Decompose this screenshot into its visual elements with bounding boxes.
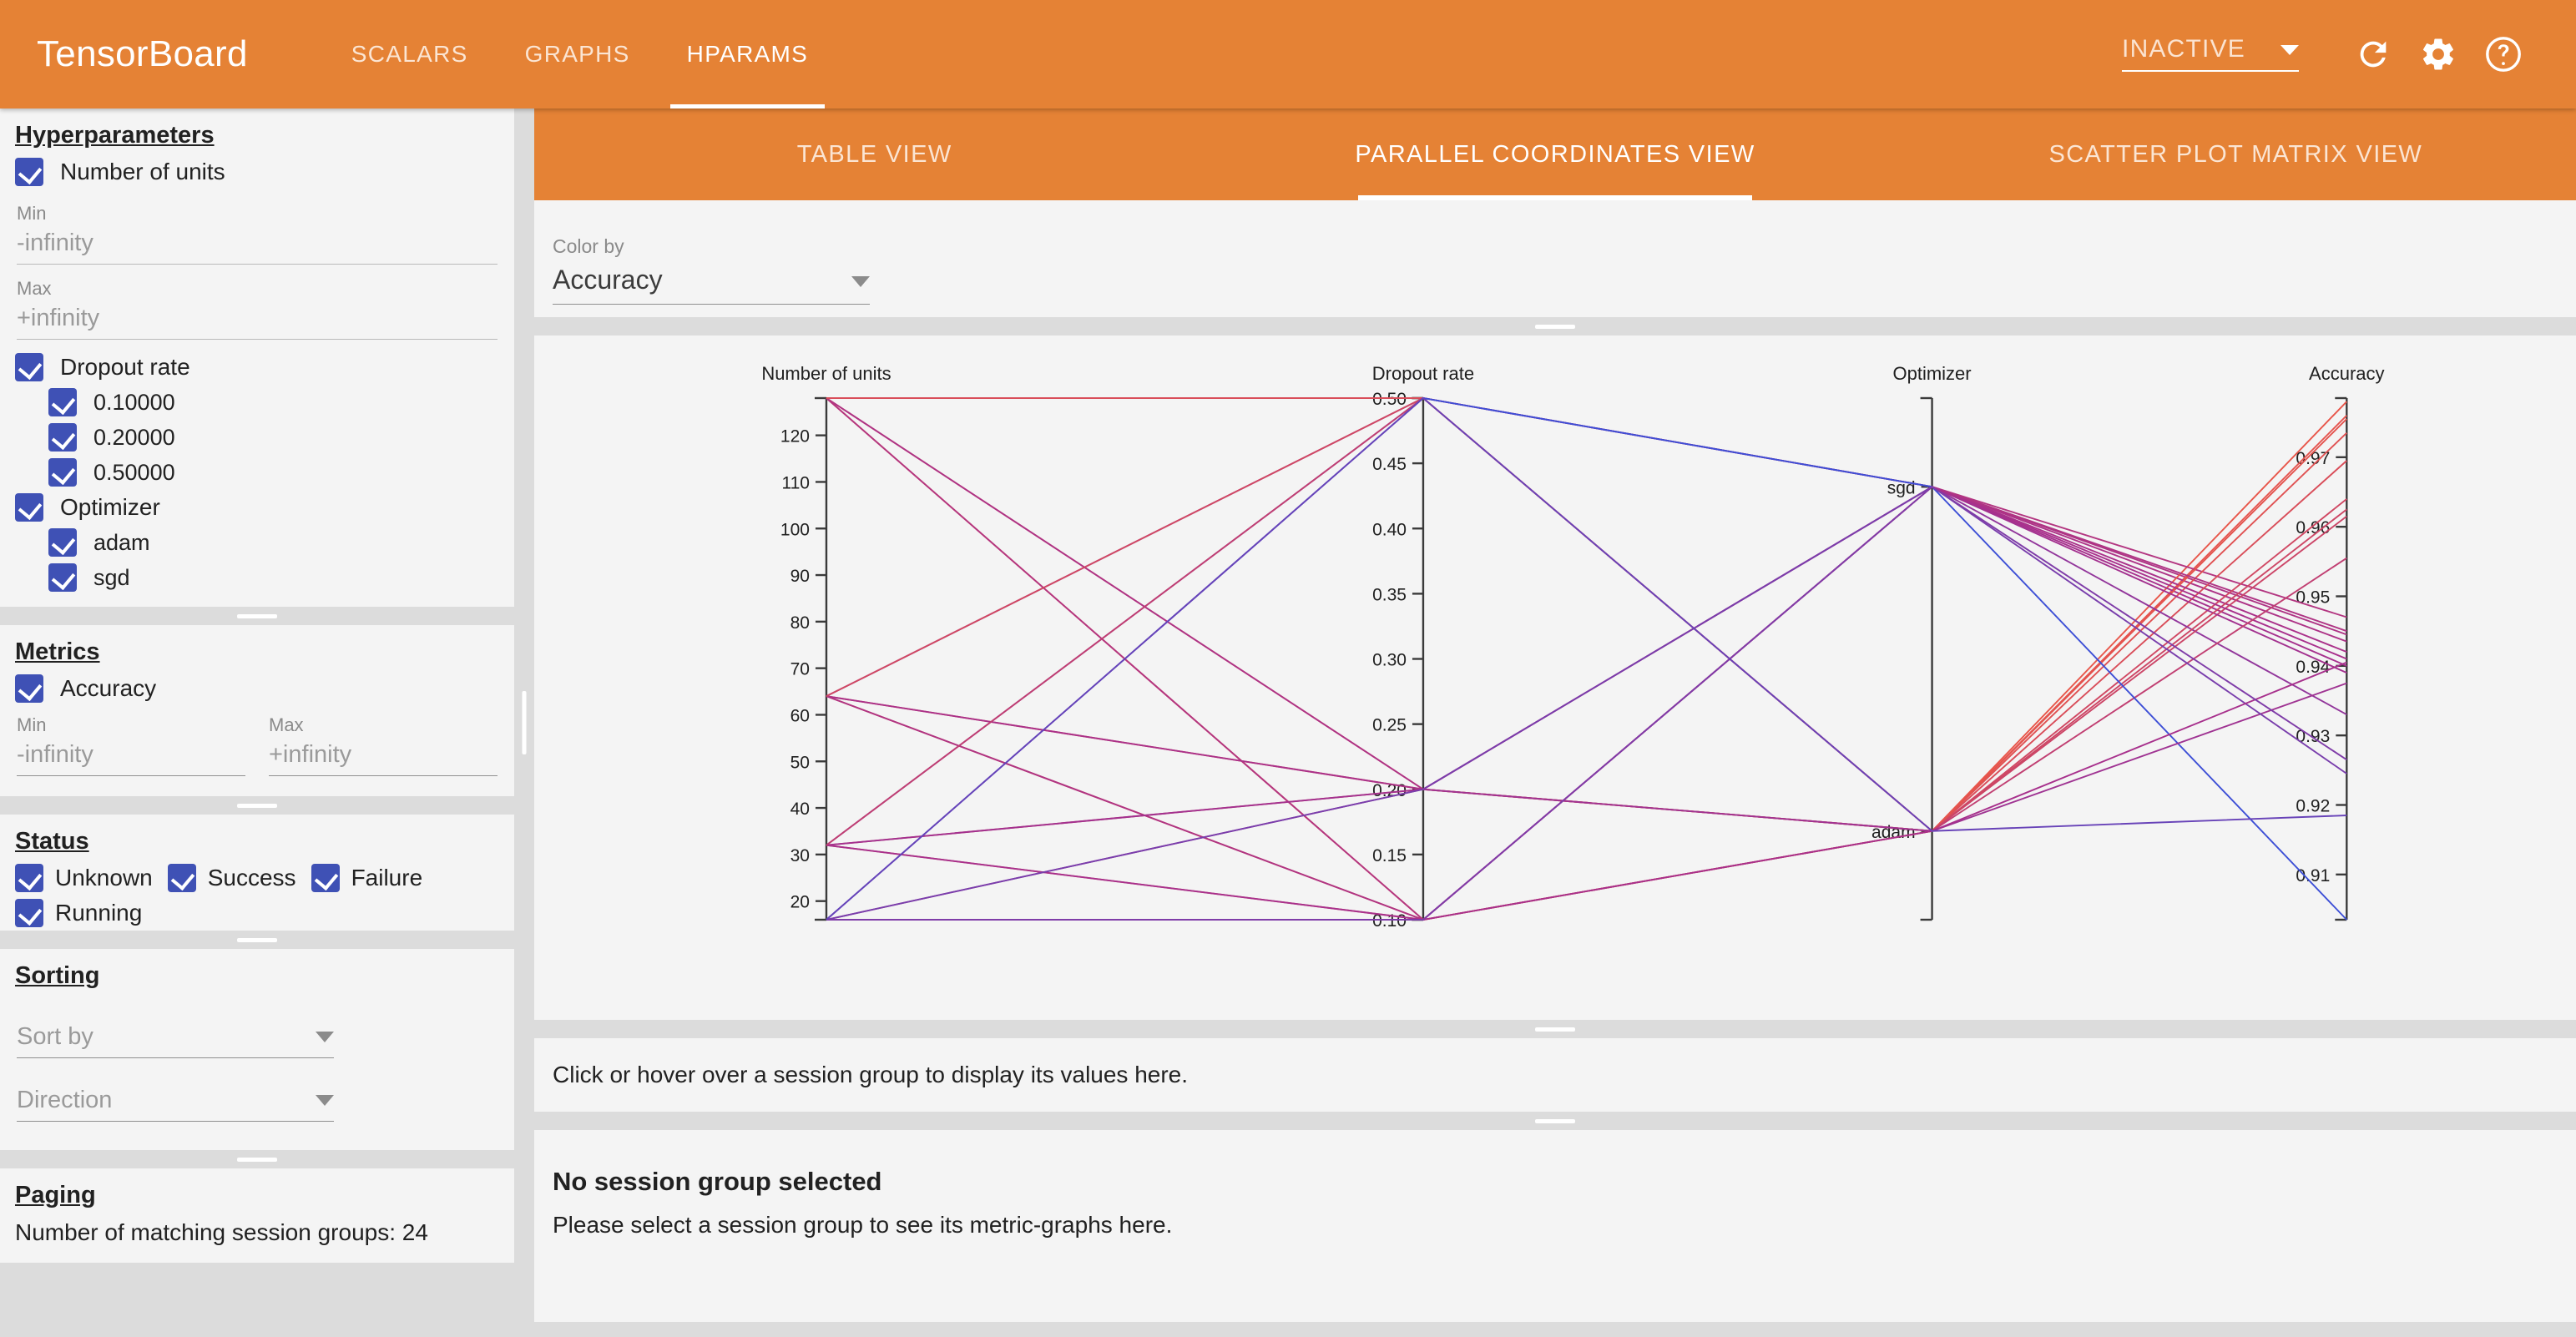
metrics-card: Metrics Accuracy Min -infinity Max +infi… xyxy=(0,625,514,796)
tab-scatter-plot-matrix-view-label: SCATTER PLOT MATRIX VIEW xyxy=(2048,141,2422,169)
accuracy-min-label: Min xyxy=(17,706,245,736)
axis-3-tick-1: 0.92 xyxy=(2296,797,2330,816)
sort-by-select[interactable]: Sort by xyxy=(0,995,514,1058)
units-max-label: Max xyxy=(17,265,498,300)
status-row-unknown[interactable]: Unknown xyxy=(15,860,168,896)
accuracy-min-value[interactable]: -infinity xyxy=(17,736,245,776)
session-panel-title: No session group selected xyxy=(553,1167,2576,1197)
axis-0-tick-9: 110 xyxy=(781,473,809,492)
axis-1: Dropout rate0.100.150.200.250.300.350.40… xyxy=(1372,363,1474,931)
app-bar: TensorBoard SCALARS GRAPHS HPARAMS INACT… xyxy=(0,0,2576,108)
session-line xyxy=(826,398,2346,845)
dropout-value-row-2[interactable]: 0.50000 xyxy=(0,455,514,490)
checkbox-optimizer[interactable] xyxy=(15,493,43,522)
app-brand: TensorBoard xyxy=(37,33,248,75)
nav-tab-hparams-label: HPARAMS xyxy=(687,41,809,68)
hover-hint-text: Click or hover over a session group to d… xyxy=(553,1062,1188,1088)
color-by-label: Color by xyxy=(553,235,2576,258)
checkbox-optimizer-1[interactable] xyxy=(48,563,77,592)
panel-divider-1[interactable] xyxy=(0,607,514,625)
checkbox-accuracy[interactable] xyxy=(15,674,43,703)
optimizer-value-row-1[interactable]: sgd xyxy=(0,560,514,595)
sorting-title: Sorting xyxy=(0,949,514,995)
status-row-failure[interactable]: Failure xyxy=(311,860,438,896)
hparam-number-of-units-label: Number of units xyxy=(60,159,225,185)
status-row-success[interactable]: Success xyxy=(168,860,311,896)
session-lines xyxy=(826,398,2346,920)
gear-icon xyxy=(2419,35,2457,73)
hparam-dropout-rate-row[interactable]: Dropout rate xyxy=(0,350,514,385)
axis-2: Optimizeradamsgd xyxy=(1871,363,1972,920)
chevron-down-icon xyxy=(316,1032,334,1042)
hover-values-panel: Click or hover over a session group to d… xyxy=(534,1038,2576,1112)
nav-tab-scalars-label: SCALARS xyxy=(351,41,468,68)
session-line xyxy=(826,684,2346,920)
session-group-panel: No session group selected Please select … xyxy=(534,1130,2576,1322)
axis-0-tick-3: 50 xyxy=(790,753,810,772)
hparam-number-of-units-row[interactable]: Number of units xyxy=(0,154,514,189)
nav-tab-hparams[interactable]: HPARAMS xyxy=(659,0,837,108)
nav-tab-graphs-label: GRAPHS xyxy=(525,41,630,68)
panel-divider-plot-top[interactable] xyxy=(534,317,2576,336)
app-bar-actions: INACTIVE xyxy=(2122,22,2576,87)
panel-divider-2[interactable] xyxy=(0,796,514,815)
axis-1-tick-1: 0.15 xyxy=(1372,846,1407,865)
session-line xyxy=(826,398,2346,634)
tab-table-view[interactable]: TABLE VIEW xyxy=(534,108,1215,200)
axis-0-tick-10: 120 xyxy=(780,427,810,447)
panel-divider-hover[interactable] xyxy=(534,1020,2576,1038)
status-row-running[interactable]: Running xyxy=(15,896,157,931)
color-by-value: Accuracy xyxy=(553,265,663,295)
session-line xyxy=(826,398,2346,920)
session-line xyxy=(826,487,2346,920)
panel-divider-3[interactable] xyxy=(0,931,514,949)
metrics-title: Metrics xyxy=(0,625,514,671)
session-line xyxy=(826,398,2346,845)
session-panel-body: Please select a session group to see its… xyxy=(553,1197,2576,1239)
tab-table-view-label: TABLE VIEW xyxy=(797,141,952,169)
axis-3-tick-0: 0.91 xyxy=(2296,866,2330,885)
hyperparameters-card: Hyperparameters Number of units Min -inf… xyxy=(0,108,514,607)
axis-3-tick-4: 0.95 xyxy=(2296,588,2330,608)
accuracy-range-fields: Min -infinity Max +infinity xyxy=(0,706,514,776)
run-selector-value: INACTIVE xyxy=(2122,37,2245,62)
axis-0-tick-8: 100 xyxy=(780,520,810,539)
metric-accuracy-row[interactable]: Accuracy xyxy=(0,671,514,706)
tab-scatter-plot-matrix-view[interactable]: SCATTER PLOT MATRIX VIEW xyxy=(1896,108,2576,200)
chevron-down-icon xyxy=(851,276,870,287)
chevron-down-icon xyxy=(316,1095,334,1106)
checkbox-dropout-2[interactable] xyxy=(48,458,77,487)
dropout-value-label-1: 0.20000 xyxy=(93,425,175,451)
hyperparameters-title: Hyperparameters xyxy=(0,108,514,154)
status-card: Status Unknown Success Failure Running xyxy=(0,815,514,931)
dropout-value-row-1[interactable]: 0.20000 xyxy=(0,420,514,455)
paging-title: Paging xyxy=(0,1168,514,1214)
optimizer-value-label-1: sgd xyxy=(93,565,130,591)
axis-title-2: Optimizer xyxy=(1893,363,1972,384)
session-line xyxy=(826,487,2346,845)
session-line xyxy=(826,398,2346,920)
units-max-value[interactable]: +infinity xyxy=(17,300,498,340)
hparam-optimizer-label: Optimizer xyxy=(60,494,160,521)
session-line xyxy=(826,398,2346,920)
direction-value: Direction xyxy=(17,1087,112,1114)
metric-accuracy-label: Accuracy xyxy=(60,675,156,702)
status-label-running: Running xyxy=(55,900,142,926)
session-line xyxy=(826,398,2346,920)
axis-0-tick-6: 80 xyxy=(790,613,810,633)
chevron-down-icon xyxy=(2281,45,2299,55)
axis-1-tick-7: 0.45 xyxy=(1372,455,1407,474)
accuracy-max-field[interactable]: Max +infinity xyxy=(269,706,498,776)
status-label-success: Success xyxy=(208,865,296,891)
units-min-label: Min xyxy=(17,189,498,225)
checkbox-dropout-1[interactable] xyxy=(48,423,77,452)
nav-tab-scalars[interactable]: SCALARS xyxy=(323,0,497,108)
settings-button[interactable] xyxy=(2406,22,2471,87)
main-nav: SCALARS GRAPHS HPARAMS xyxy=(323,0,836,108)
axis-0: Number of units2030405060708090100110120 xyxy=(761,363,891,920)
session-line xyxy=(826,433,2346,831)
checkbox-number-of-units[interactable] xyxy=(15,158,43,186)
accuracy-max-value[interactable]: +infinity xyxy=(269,736,498,776)
optimizer-value-label-0: adam xyxy=(93,530,150,556)
status-label-failure: Failure xyxy=(351,865,423,891)
session-line xyxy=(826,663,2346,920)
sidebar-resize-handle[interactable] xyxy=(514,108,534,1337)
sort-by-value: Sort by xyxy=(17,1023,93,1051)
axis-title-3: Accuracy xyxy=(2309,363,2384,384)
axis-2-cat-0: adam xyxy=(1871,823,1916,842)
color-by-panel: Color by Accuracy xyxy=(534,200,2576,317)
units-min-value[interactable]: -infinity xyxy=(17,225,498,265)
axis-1-tick-5: 0.35 xyxy=(1372,585,1407,604)
checkbox-status-running[interactable] xyxy=(15,899,43,927)
axis-1-tick-4: 0.30 xyxy=(1372,651,1407,670)
axis-1-tick-3: 0.25 xyxy=(1372,716,1407,735)
session-line xyxy=(826,398,2346,831)
help-icon xyxy=(2483,34,2523,74)
sidebar: Hyperparameters Number of units Min -inf… xyxy=(0,108,514,1337)
accuracy-min-field[interactable]: Min -infinity xyxy=(17,706,245,776)
axis-1-tick-6: 0.40 xyxy=(1372,520,1407,539)
matching-session-groups-text: Number of matching session groups: 24 xyxy=(0,1214,514,1263)
sorting-card: Sorting Sort by Direction xyxy=(0,949,514,1150)
main-content: TABLE VIEW PARALLEL COORDINATES VIEW SCA… xyxy=(534,108,2576,1337)
checkbox-dropout-0[interactable] xyxy=(48,388,77,416)
checkbox-status-success[interactable] xyxy=(168,864,196,892)
axis-0-tick-7: 90 xyxy=(790,567,810,586)
dropout-value-row-0[interactable]: 0.10000 xyxy=(0,385,514,420)
session-line xyxy=(826,419,2346,920)
checkbox-dropout-rate[interactable] xyxy=(15,353,43,381)
tab-parallel-coordinates-view[interactable]: PARALLEL COORDINATES VIEW xyxy=(1215,108,1895,200)
session-line xyxy=(826,398,2346,831)
axis-0-tick-1: 30 xyxy=(790,846,810,865)
hparam-dropout-rate-label: Dropout rate xyxy=(60,354,190,381)
units-max-field[interactable]: Max +infinity xyxy=(0,265,514,340)
session-line xyxy=(826,398,2346,831)
hparam-optimizer-row[interactable]: Optimizer xyxy=(0,490,514,525)
axis-3-tick-3: 0.94 xyxy=(2296,658,2330,677)
axis-0-tick-4: 60 xyxy=(790,706,810,725)
optimizer-value-row-0[interactable]: adam xyxy=(0,525,514,560)
panel-divider-4[interactable] xyxy=(0,1150,514,1168)
checkbox-status-unknown[interactable] xyxy=(15,864,43,892)
parallel-coordinates-svg[interactable]: Number of units2030405060708090100110120… xyxy=(534,336,2576,1020)
status-label-unknown: Unknown xyxy=(55,865,153,891)
status-title: Status xyxy=(0,815,514,860)
parallel-coordinates-plot[interactable]: Number of units2030405060708090100110120… xyxy=(534,336,2576,1020)
tab-parallel-coordinates-view-label: PARALLEL COORDINATES VIEW xyxy=(1355,141,1755,169)
panel-divider-session[interactable] xyxy=(534,1112,2576,1130)
dropout-value-label-2: 0.50000 xyxy=(93,460,175,486)
refresh-icon xyxy=(2354,35,2392,73)
accuracy-max-label: Max xyxy=(269,706,498,736)
axis-3: Accuracy0.910.920.930.940.950.960.97 xyxy=(2296,363,2384,920)
refresh-button[interactable] xyxy=(2341,22,2406,87)
checkbox-optimizer-0[interactable] xyxy=(48,528,77,557)
axis-0-tick-5: 70 xyxy=(790,660,810,679)
status-checkbox-row: Unknown Success Failure Running xyxy=(0,860,514,931)
checkbox-status-failure[interactable] xyxy=(311,864,340,892)
paging-card: Paging Number of matching session groups… xyxy=(0,1168,514,1263)
view-tabs: TABLE VIEW PARALLEL COORDINATES VIEW SCA… xyxy=(534,108,2576,200)
axis-0-tick-0: 20 xyxy=(790,893,810,912)
axis-0-tick-2: 40 xyxy=(790,800,810,819)
nav-tab-graphs[interactable]: GRAPHS xyxy=(497,0,659,108)
axis-title-1: Dropout rate xyxy=(1372,363,1474,384)
axis-title-0: Number of units xyxy=(761,363,891,384)
direction-select[interactable]: Direction xyxy=(0,1058,514,1122)
units-min-field[interactable]: Min -infinity xyxy=(0,189,514,265)
dropout-value-label-0: 0.10000 xyxy=(93,390,175,416)
axis-1-tick-8: 0.50 xyxy=(1372,390,1407,409)
color-by-select[interactable]: Accuracy xyxy=(553,265,870,305)
run-selector[interactable]: INACTIVE xyxy=(2122,37,2299,72)
help-button[interactable] xyxy=(2471,22,2536,87)
session-line xyxy=(826,398,2346,790)
